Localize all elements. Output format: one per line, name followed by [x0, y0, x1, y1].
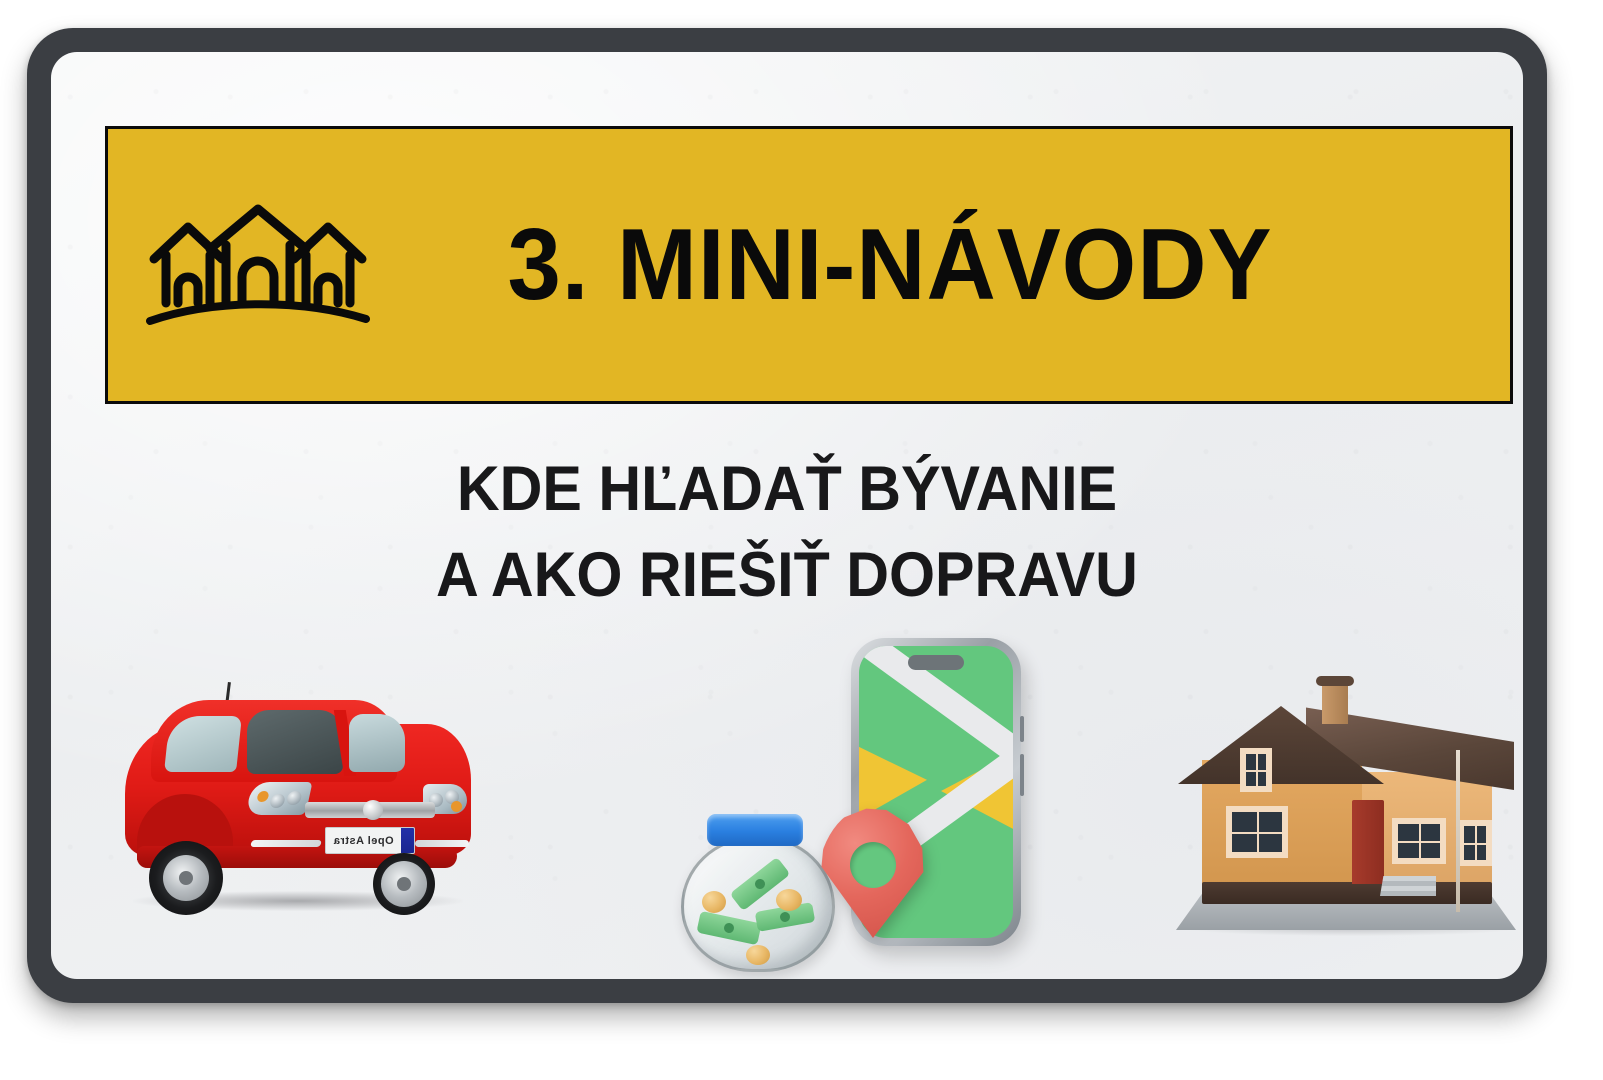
jar-coin-1	[702, 891, 726, 913]
house-chimney	[1322, 682, 1348, 724]
slide-canvas: 3. MINI-NÁVODY KDE HĽADAŤ BÝVANIE A AKO …	[0, 0, 1603, 1080]
jar-coin-2	[776, 889, 802, 911]
house-model-illustration	[1156, 672, 1523, 930]
subtitle-line-1: KDE HĽADAŤ BÝVANIE	[95, 447, 1479, 533]
banner-title: 3. MINI-NÁVODY	[410, 215, 1482, 316]
house-chimney-cap	[1316, 676, 1354, 686]
jar-banknote-2	[696, 911, 761, 945]
car-wheel-rear	[373, 853, 435, 915]
car-brand-badge	[363, 800, 383, 820]
house-window-gable	[1240, 748, 1272, 792]
house-door	[1352, 800, 1384, 884]
jar-lid	[707, 814, 803, 846]
house-steps	[1380, 876, 1436, 896]
car-headlight-left	[245, 782, 312, 815]
car-indicator-left	[256, 791, 269, 802]
house-flagpole	[1456, 750, 1460, 912]
car-wheel-front	[149, 841, 223, 915]
house-window-front-left	[1226, 806, 1288, 858]
car-indicator-right	[451, 801, 462, 812]
car-bumper-trim-right	[415, 840, 469, 847]
three-houses-icon	[134, 199, 382, 331]
car-license-plate-text: Opel Astra	[326, 835, 401, 847]
location-pin-hole	[850, 842, 896, 888]
phone-notch	[908, 655, 964, 670]
phone-side-button-bottom	[1020, 754, 1024, 796]
car-license-plate: Opel Astra	[325, 827, 415, 854]
illustration-row: Opel Astra	[51, 562, 1523, 952]
car-bumper-trim-left	[250, 840, 322, 847]
car-headlight-bulb-b	[286, 791, 303, 805]
car-headlight-bulb-a	[269, 794, 286, 808]
jar-glass	[681, 836, 835, 972]
jar-coin-3	[746, 945, 770, 965]
map-and-savings-illustration	[675, 638, 1035, 968]
car-plate-eu-band	[401, 828, 414, 853]
slide-card-inner: 3. MINI-NÁVODY KDE HĽADAŤ BÝVANIE A AKO …	[51, 52, 1523, 979]
car-windshield	[349, 714, 405, 772]
house-window-front-right	[1392, 818, 1446, 864]
section-banner: 3. MINI-NÁVODY	[105, 126, 1513, 404]
house-window-side	[1458, 820, 1492, 866]
slide-card-frame: 3. MINI-NÁVODY KDE HĽADAŤ BÝVANIE A AKO …	[27, 28, 1547, 1003]
house-foundation	[1202, 882, 1492, 904]
red-car-illustration: Opel Astra	[111, 682, 486, 917]
savings-jar-illustration	[681, 814, 829, 966]
car-rim-rear	[381, 861, 427, 907]
car-side-window	[247, 710, 343, 774]
phone-side-button-top	[1020, 716, 1024, 742]
car-rim-front	[163, 855, 209, 901]
location-pin-icon	[817, 806, 929, 938]
